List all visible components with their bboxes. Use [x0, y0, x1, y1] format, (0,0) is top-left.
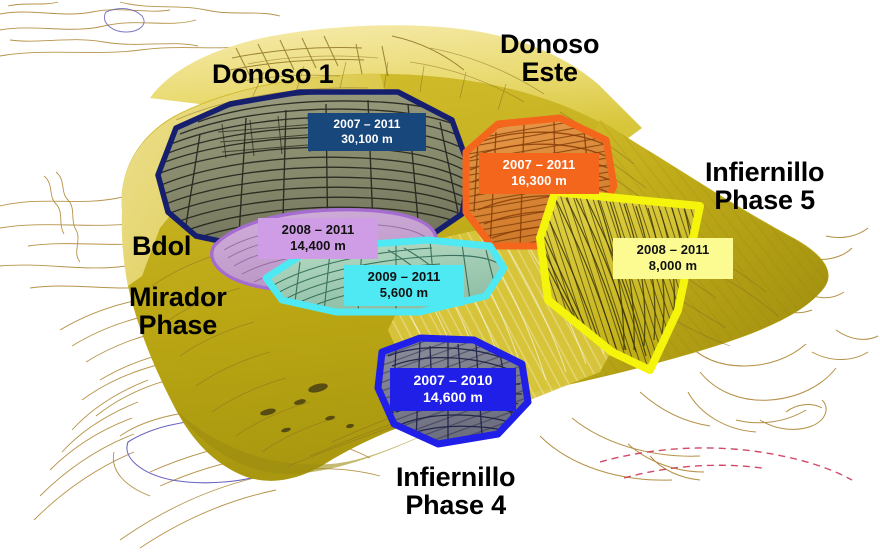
- callout-period: 2008 – 2011: [621, 242, 725, 258]
- callout-amount: 30,100 m: [316, 132, 418, 147]
- callout-amount: 5,600 m: [352, 285, 456, 301]
- callout-period: 2008 – 2011: [266, 222, 370, 238]
- callout-bdol: 2008 – 2011 14,400 m: [258, 218, 378, 259]
- callout-amount: 14,400 m: [266, 238, 370, 254]
- callout-mirador-phase: 2009 – 2011 5,600 m: [344, 265, 464, 306]
- callout-period: 2009 – 2011: [352, 269, 456, 285]
- callout-donoso-este: 2007 – 2011 16,300 m: [479, 153, 599, 194]
- callout-period: 2007 – 2010: [398, 372, 508, 389]
- callout-donoso-1: 2007 – 2011 30,100 m: [308, 113, 426, 151]
- callout-infiernillo-phase-4: 2007 – 2010 14,600 m: [390, 368, 516, 411]
- callout-period: 2007 – 2011: [487, 157, 591, 173]
- mine-phase-plan-figure: Donoso 1 Donoso Este Infiernillo Phase 5…: [0, 0, 880, 552]
- callout-period: 2007 – 2011: [316, 117, 418, 132]
- callout-amount: 14,600 m: [398, 389, 508, 406]
- callout-infiernillo-phase-5: 2008 – 2011 8,000 m: [613, 238, 733, 279]
- callout-amount: 16,300 m: [487, 173, 591, 189]
- callout-amount: 8,000 m: [621, 258, 725, 274]
